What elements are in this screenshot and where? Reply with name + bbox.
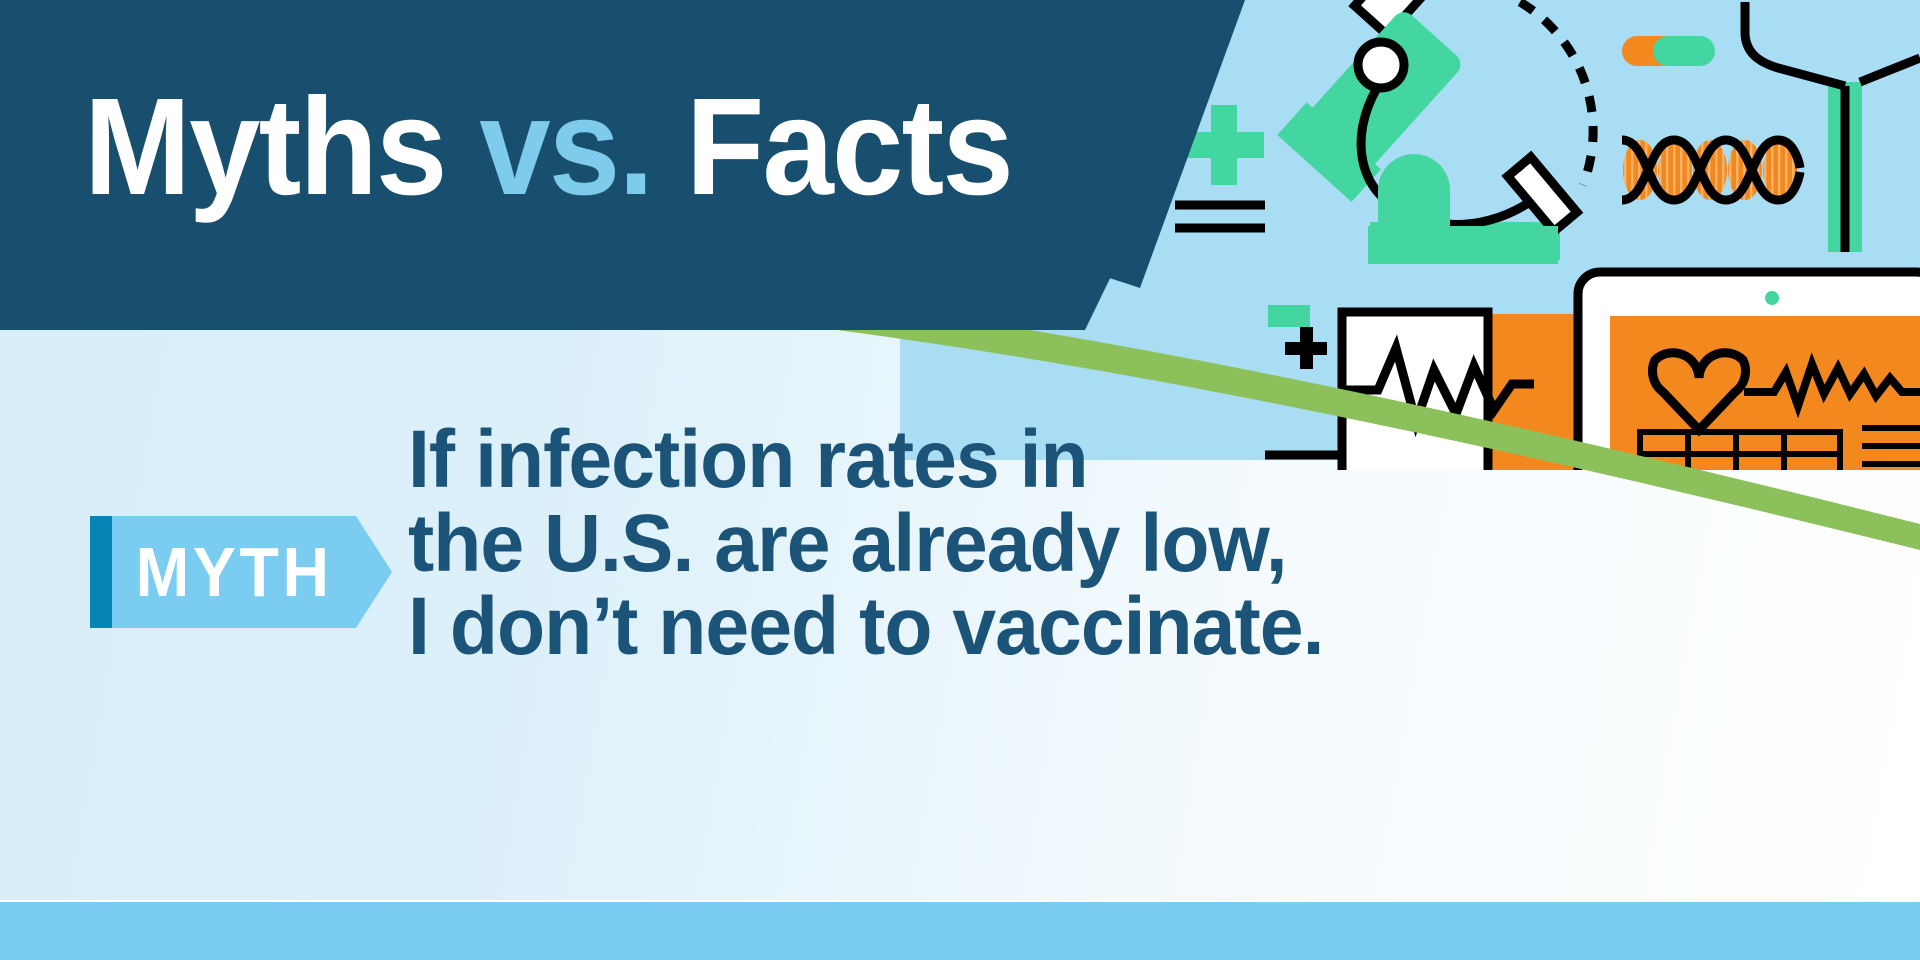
myth-badge-arrow-point	[356, 516, 392, 628]
myth-statement: If infection rates in the U.S. are alrea…	[408, 418, 1408, 669]
title-part-facts: Facts	[652, 70, 1012, 224]
myth-statement-line-3: I don’t need to vaccinate.	[408, 585, 1368, 669]
myth-badge-accent-bar	[90, 516, 112, 628]
myth-badge-label: MYTH	[135, 537, 332, 607]
myth-badge-body: MYTH	[112, 516, 356, 628]
title-part-vs: vs.	[479, 70, 652, 224]
myth-badge: MYTH	[90, 516, 356, 628]
page-title: Myths vs. Facts	[84, 78, 1012, 216]
footer-strip	[0, 902, 1920, 960]
infographic-canvas: Myths vs. Facts MYTH If infection rates …	[0, 0, 1920, 960]
myth-statement-line-2: the U.S. are already low,	[408, 502, 1368, 586]
title-part-myths: Myths	[84, 70, 479, 224]
myth-statement-line-1: If infection rates in	[408, 418, 1368, 502]
